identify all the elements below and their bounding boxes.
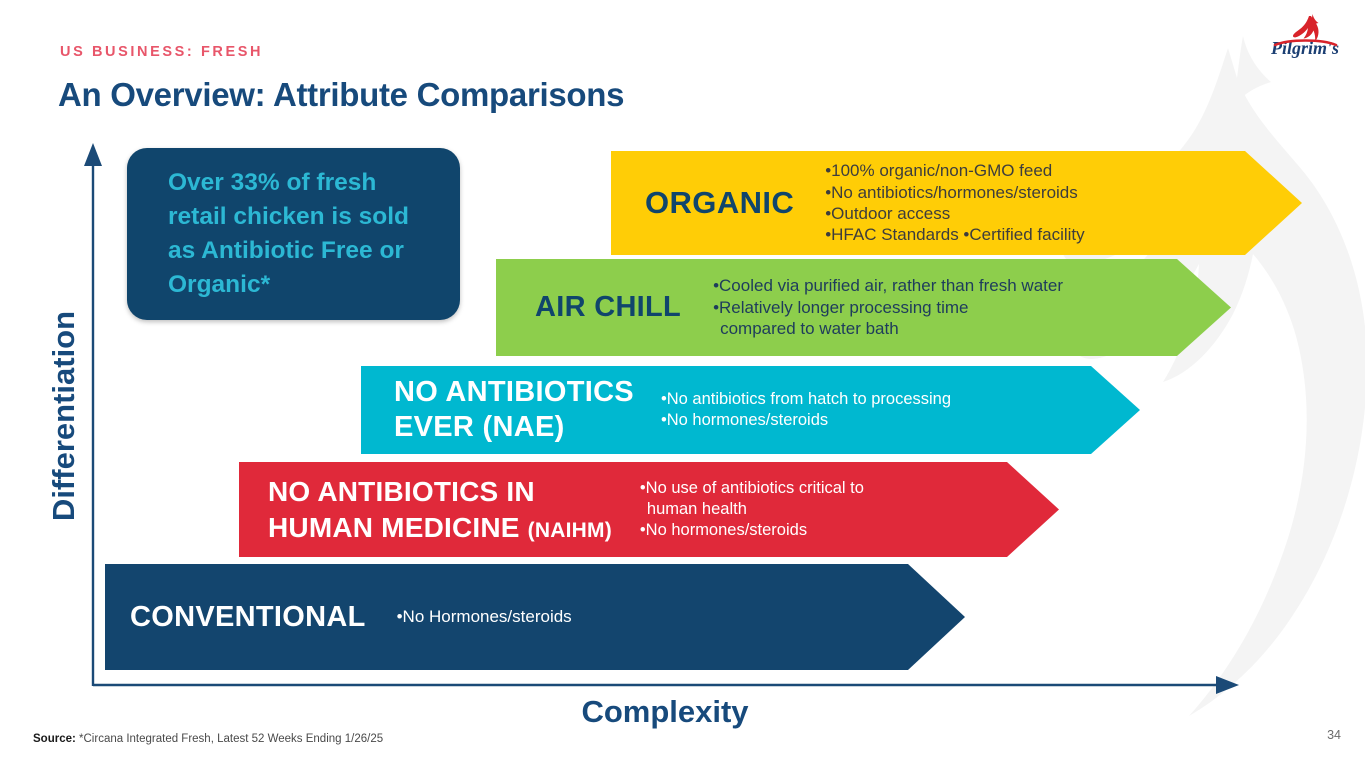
- bullet-item: •100% organic/non-GMO feed: [825, 160, 1084, 181]
- page-eyebrow: US BUSINESS: FRESH: [60, 44, 263, 60]
- bullet-item: compared to water bath: [713, 318, 1063, 339]
- callout-text: Over 33% of fresh retail chicken is sold…: [168, 166, 432, 301]
- callout-box: Over 33% of fresh retail chicken is sold…: [127, 148, 460, 320]
- page-title: An Overview: Attribute Comparisons: [58, 76, 624, 114]
- bullet-item: •Cooled via purified air, rather than fr…: [713, 275, 1063, 296]
- bullet-item: •No hormones/steroids: [661, 410, 951, 431]
- tier-label-organic: ORGANIC: [611, 185, 794, 221]
- source-note: Source: *Circana Integrated Fresh, Lates…: [33, 733, 383, 745]
- bullet-item: •No antibiotics from hatch to processing: [661, 389, 951, 410]
- bullet-item: •Relatively longer processing time: [713, 297, 1063, 318]
- bullet-item: •No Hormones/steroids: [397, 606, 572, 627]
- pilgrims-logo: Pilgrim's: [1263, 14, 1347, 62]
- pilgrims-wordmark: Pilgrim's: [1270, 38, 1339, 58]
- tier-label-line: NO ANTIBIOTICS: [394, 375, 634, 410]
- tier-arrow-air-chill[interactable]: AIR CHILL •Cooled via purified air, rath…: [496, 259, 1231, 356]
- tier-bullets-air-chill: •Cooled via purified air, rather than fr…: [681, 275, 1063, 339]
- y-axis-label: Differentiation: [46, 276, 82, 556]
- tier-arrow-naihm[interactable]: NO ANTIBIOTICS IN HUMAN MEDICINE (NAIHM)…: [239, 462, 1059, 557]
- tier-bullets-nae: •No antibiotics from hatch to processing…: [634, 389, 951, 431]
- tier-arrow-organic[interactable]: ORGANIC •100% organic/non-GMO feed •No a…: [611, 151, 1302, 255]
- tier-arrow-nae[interactable]: NO ANTIBIOTICS EVER (NAE) •No antibiotic…: [361, 366, 1140, 454]
- bullet-item: human health: [640, 499, 864, 520]
- tier-label-nae: NO ANTIBIOTICS EVER (NAE): [361, 375, 634, 446]
- bullet-item: •No hormones/steroids: [640, 520, 864, 541]
- bullet-item: •Outdoor access: [825, 203, 1084, 224]
- rooster-icon: [1293, 14, 1319, 42]
- source-text: *Circana Integrated Fresh, Latest 52 Wee…: [76, 733, 383, 745]
- tier-label-air-chill: AIR CHILL: [496, 291, 681, 324]
- bullet-item: •HFAC Standards •Certified facility: [825, 224, 1084, 245]
- tier-bullets-conventional: •No Hormones/steroids: [366, 606, 572, 627]
- tier-label-sub: (NAIHM): [528, 519, 612, 542]
- x-axis-label: Complexity: [440, 694, 890, 730]
- bullet-item: •No use of antibiotics critical to: [640, 478, 864, 499]
- slide-canvas: US BUSINESS: FRESH An Overview: Attribut…: [0, 0, 1365, 768]
- tier-bullets-organic: •100% organic/non-GMO feed •No antibioti…: [794, 160, 1084, 246]
- page-number: 34: [1327, 728, 1341, 742]
- tier-arrow-conventional[interactable]: CONVENTIONAL •No Hormones/steroids: [105, 564, 965, 670]
- tier-label-line: EVER (NAE): [394, 410, 634, 445]
- bullet-item: •No antibiotics/hormones/steroids: [825, 182, 1084, 203]
- tier-label-line: HUMAN MEDICINE (NAIHM): [268, 510, 612, 545]
- source-label: Source:: [33, 733, 76, 745]
- tier-bullets-naihm: •No use of antibiotics critical to human…: [612, 478, 864, 540]
- tier-label-conventional: CONVENTIONAL: [105, 601, 366, 634]
- tier-label-naihm: NO ANTIBIOTICS IN HUMAN MEDICINE (NAIHM): [239, 474, 612, 545]
- tier-label-line: NO ANTIBIOTICS IN: [268, 474, 612, 509]
